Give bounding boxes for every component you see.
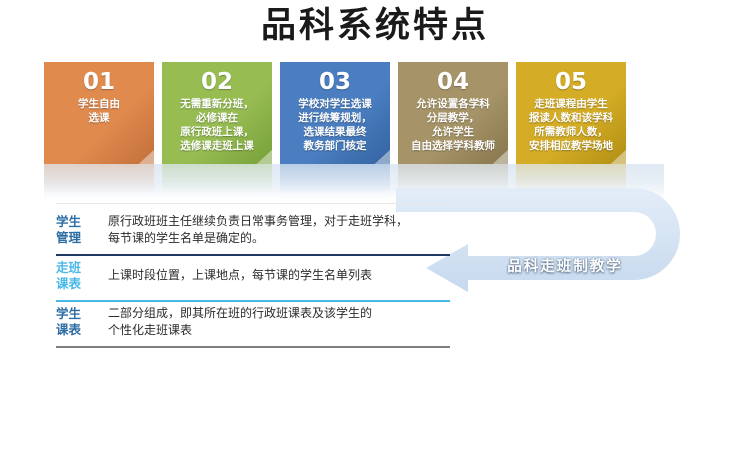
info-row-label: 学生 课表 (56, 305, 108, 338)
card-04[interactable]: 04允许设置各学科 分层教学， 允许学生 自由选择学科教师 (398, 62, 508, 164)
info-row-label: 走班 课表 (56, 259, 108, 292)
info-table: 学生 管理原行政班班主任继续负责日常事务管理，对于走班学科， 每节课的学生名单是… (56, 210, 450, 348)
card-05-text: 走班课程由学生 报读人数和该学科 所需教师人数， 安排相应教学场地 (519, 96, 623, 153)
card-04-text: 允许设置各学科 分层教学， 允许学生 自由选择学科教师 (401, 96, 505, 153)
loop-arrow-label: 品科走班制教学 (470, 255, 660, 276)
page-title: 品科系统特点 (0, 2, 750, 50)
card-03-text: 学校对学生选课 进行统筹规划， 选课结果最终 教务部门核定 (283, 96, 387, 153)
info-row-description: 二部分组成，即其所在班的行政班课表及该学生的 个性化走班课表 (108, 305, 450, 339)
info-row-description: 原行政班班主任继续负责日常事务管理，对于走班学科， 每节课的学生名单是确定的。 (108, 213, 450, 247)
info-row-label: 学生 管理 (56, 213, 108, 246)
card-05[interactable]: 05走班课程由学生 报读人数和该学科 所需教师人数， 安排相应教学场地 (516, 62, 626, 164)
info-row-divider (56, 346, 450, 348)
card-01-text: 学生自由 选课 (47, 96, 151, 125)
card-02-text: 无需重新分班， 必修课在 原行政班上课， 选修课走班上课 (165, 96, 269, 153)
info-row: 走班 课表上课时段位置，上课地点，每节课的学生名单列表 (56, 256, 450, 300)
info-row-description: 上课时段位置，上课地点，每节课的学生名单列表 (108, 259, 450, 284)
card-02[interactable]: 02无需重新分班， 必修课在 原行政班上课， 选修课走班上课 (162, 62, 272, 164)
table-top-rule (56, 203, 450, 204)
card-05-number: 05 (519, 68, 623, 96)
card-01-number: 01 (47, 68, 151, 96)
card-03-number: 03 (283, 68, 387, 96)
card-04-number: 04 (401, 68, 505, 96)
card-02-number: 02 (165, 68, 269, 96)
card-03[interactable]: 03学校对学生选课 进行统筹规划， 选课结果最终 教务部门核定 (280, 62, 390, 164)
card-01[interactable]: 01学生自由 选课 (44, 62, 154, 164)
info-row: 学生 课表二部分组成，即其所在班的行政班课表及该学生的 个性化走班课表 (56, 302, 450, 346)
info-row: 学生 管理原行政班班主任继续负责日常事务管理，对于走班学科， 每节课的学生名单是… (56, 210, 450, 254)
